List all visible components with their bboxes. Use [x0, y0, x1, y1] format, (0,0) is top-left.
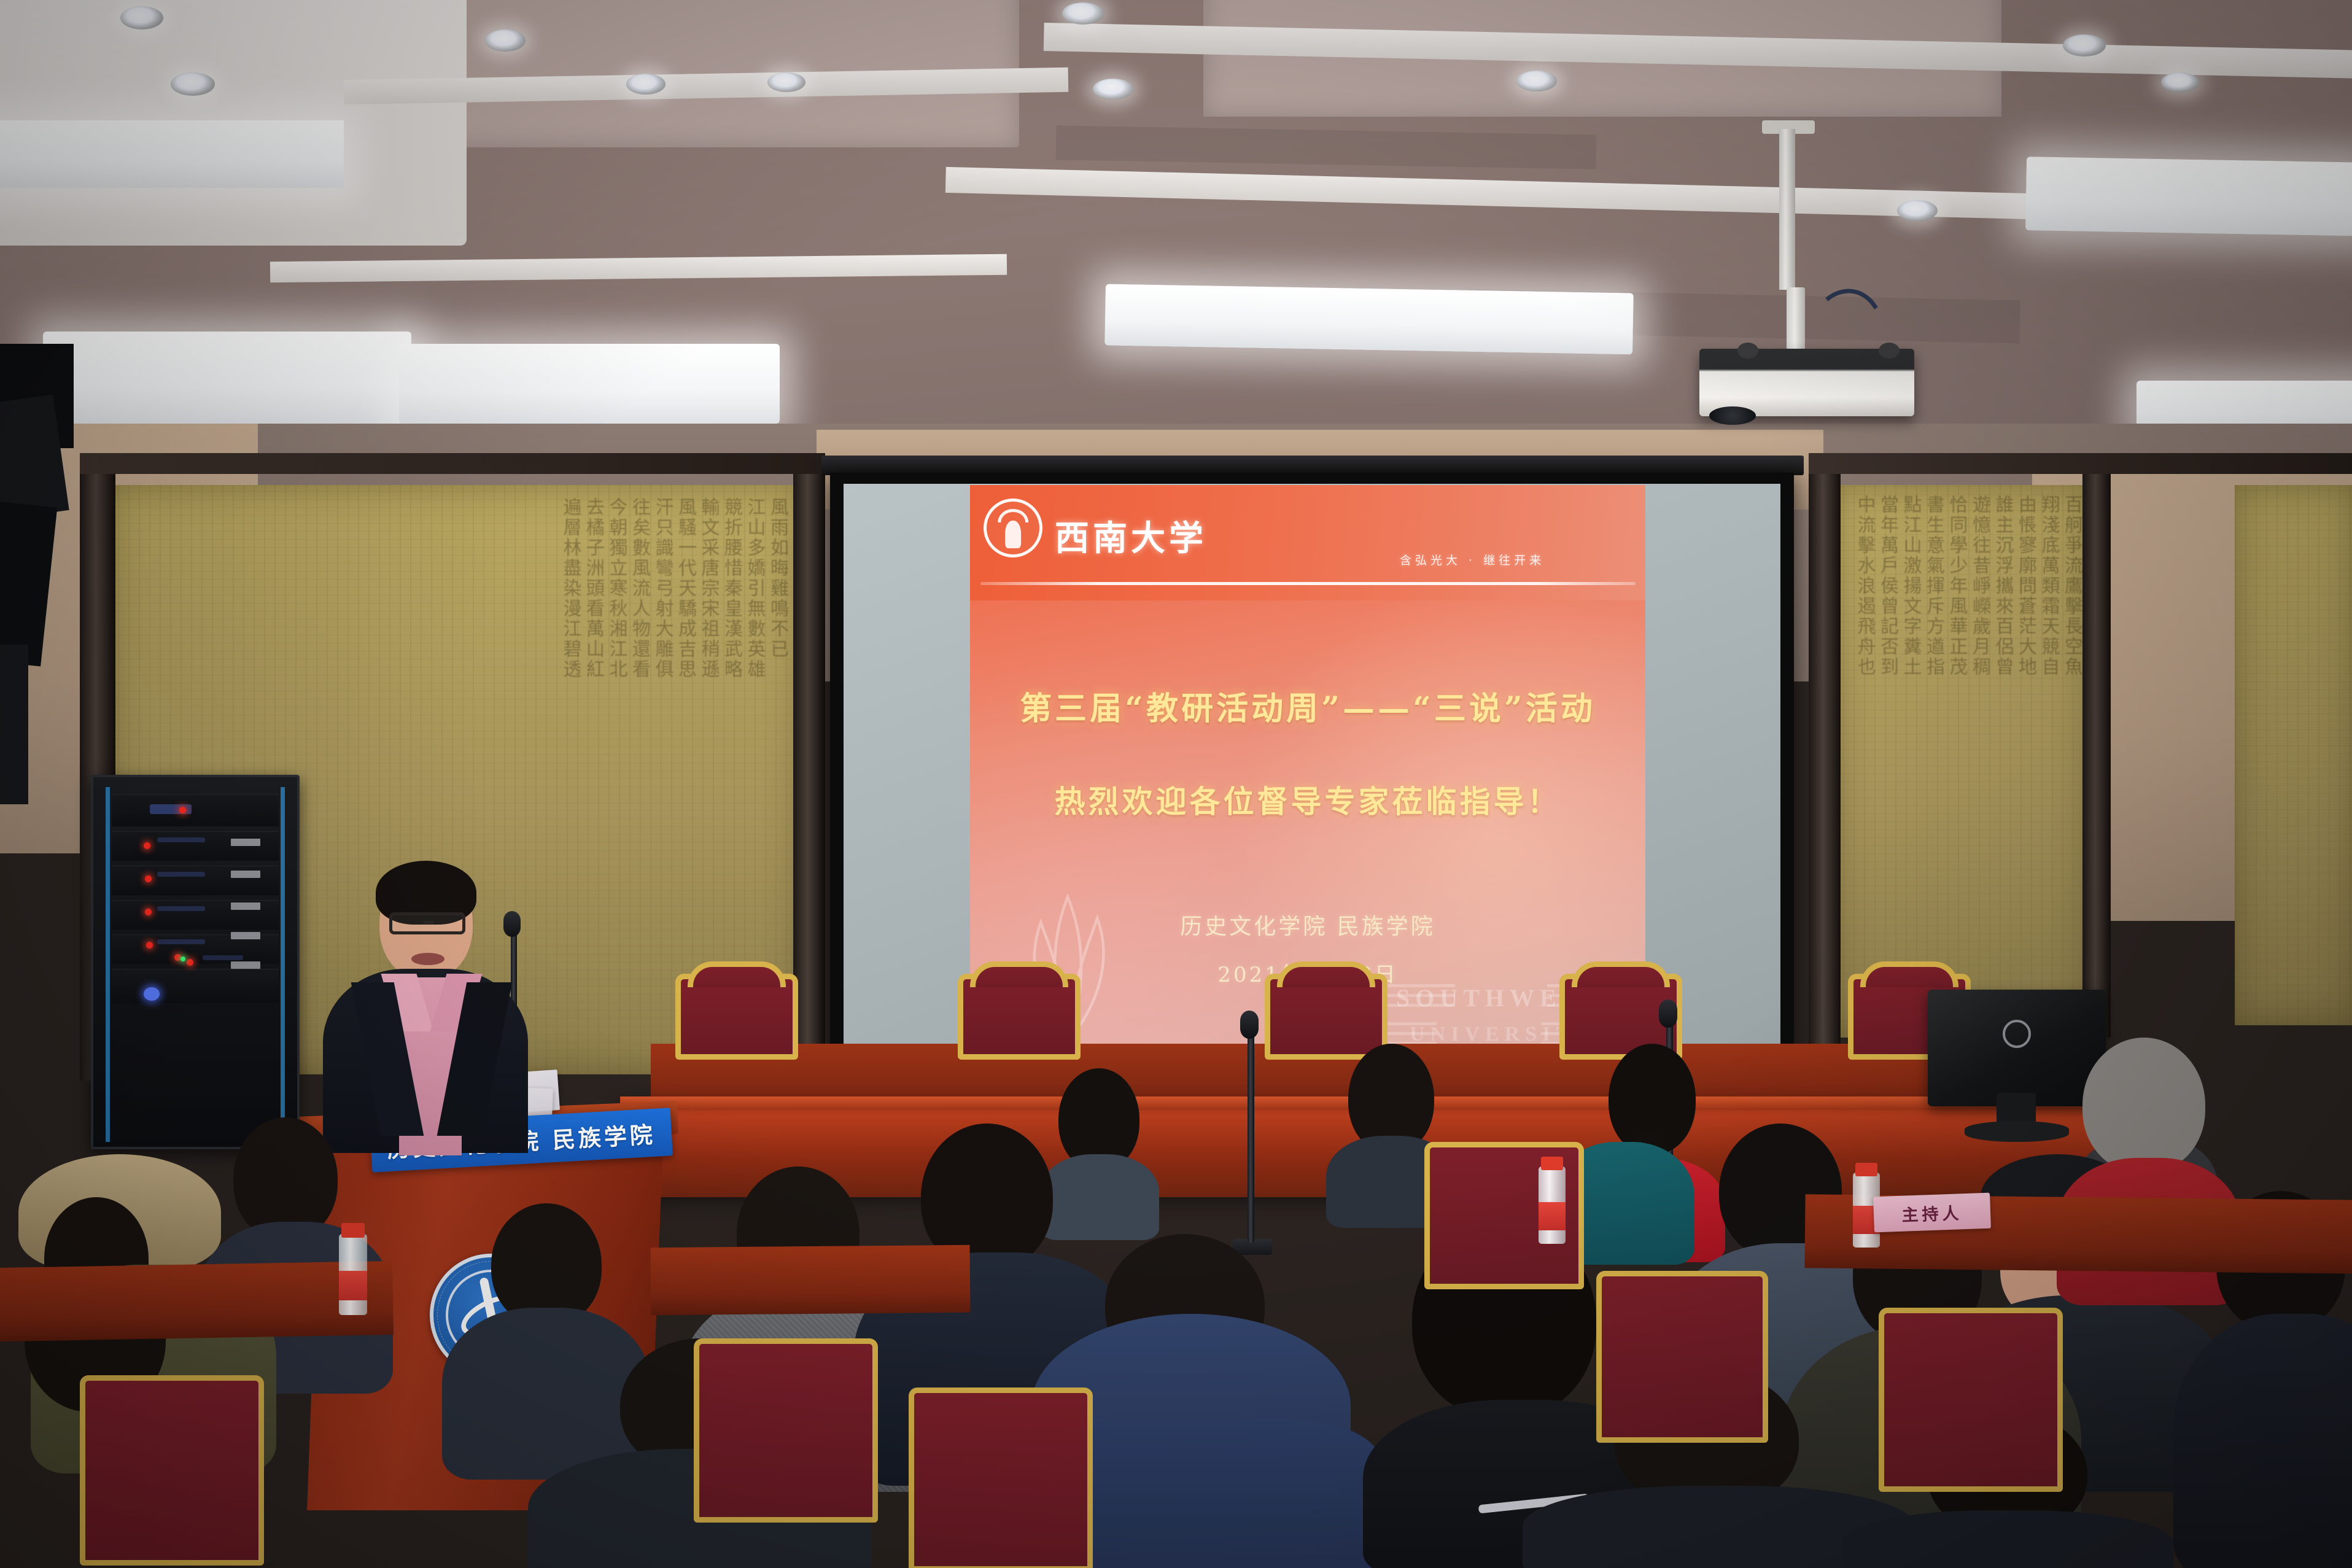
university-motto: 含弘光大 · 继往开来	[1400, 551, 1545, 568]
audience-desk-left	[0, 1261, 394, 1342]
av-equipment-rack[interactable]	[91, 775, 300, 1149]
ceiling-light-panel-right	[2025, 157, 2352, 236]
rack-label-2	[231, 871, 260, 878]
audience-chair-back	[694, 1338, 878, 1523]
speaker-glasses-bridge	[424, 921, 433, 924]
projector-lens-icon	[1709, 406, 1756, 425]
stage-chair-crown	[1572, 961, 1670, 987]
audience-desk-center	[651, 1245, 971, 1316]
rack-led-7	[187, 959, 193, 966]
name-card: 主持人	[1873, 1193, 1991, 1233]
video-camera-tripod	[0, 645, 28, 804]
rack-led-5	[146, 942, 153, 949]
rack-led-4	[145, 909, 152, 915]
stage-chair-crown	[1860, 961, 1958, 987]
rack-display-strip-2	[157, 837, 205, 842]
ceiling-light-panel-left	[0, 120, 344, 188]
stage-chair-crown	[970, 961, 1068, 987]
rack-display-strip-6	[203, 955, 243, 960]
ceiling-light-panel-center-right	[1104, 284, 1634, 355]
stage-chair-crown	[1277, 961, 1375, 987]
downlight-9	[2063, 34, 2106, 56]
wall-mullion-far-right	[2082, 467, 2111, 1038]
audience-chair-back	[1596, 1271, 1768, 1443]
rack-label-5	[231, 961, 260, 969]
rack-label-1	[231, 839, 260, 846]
rack-led-3	[145, 875, 152, 882]
downlight-2	[171, 72, 215, 96]
rack-unit-1	[112, 794, 279, 826]
wall-calligraphy-text-right: 百舸爭流鷹擊長空魚 翔淺底萬類霜天競自 由悵寥廓問蒼茫大地 誰主沉浮攜來百侶曾 …	[1840, 495, 2083, 1027]
wall-calligraphy-panel-right: 百舸爭流鷹擊長空魚 翔淺底萬類霜天競自 由悵寥廓問蒼茫大地 誰主沉浮攜來百侶曾 …	[1833, 485, 2090, 1038]
rack-label-4	[231, 932, 260, 939]
audience-torso	[1842, 1510, 2173, 1568]
audience-head-grey	[2082, 1038, 2205, 1173]
rack-label-3	[231, 902, 260, 910]
water-bottle-2-cap	[1541, 1157, 1563, 1170]
rack-led-power	[144, 987, 160, 1001]
audience-chair-5[interactable]	[80, 1375, 264, 1566]
downlight-3	[485, 29, 526, 52]
water-bottle-2-label	[1539, 1202, 1566, 1230]
slide-welcome-text: 热烈欢迎各位督导专家莅临指导！	[970, 777, 1645, 821]
audience-chair-4[interactable]	[1879, 1308, 2063, 1492]
audience-torso	[2173, 1314, 2352, 1568]
downlight-8	[1897, 200, 1938, 221]
stage-chair-crown	[688, 961, 786, 987]
audience-chair-back	[909, 1388, 1093, 1568]
microphone-head-1	[1240, 1011, 1259, 1039]
wall-mullion-right	[1809, 467, 1841, 1050]
projector-knob-left	[1737, 343, 1758, 359]
university-name: 西南大学	[1055, 511, 1207, 561]
wall-header-strip-right	[1809, 453, 2352, 474]
wall-header-strip	[80, 453, 825, 474]
microphone-stem-1	[1248, 1022, 1254, 1243]
slide-title: 第三届“教研活动周”——“三说”活动	[970, 683, 1645, 729]
ceiling-light-panel-center	[399, 344, 780, 424]
audience-chair-back	[80, 1375, 264, 1566]
downlight-10	[2161, 72, 2199, 92]
downlight-5	[1093, 79, 1133, 99]
water-bottle-1-cap	[341, 1223, 365, 1238]
ceiling-light-panel-left-2	[43, 332, 411, 424]
water-bottle-1-label	[339, 1271, 367, 1300]
rack-rail-left	[106, 787, 110, 1142]
slide-divider-rule	[980, 582, 1636, 585]
water-bottle-3-cap	[1855, 1163, 1877, 1176]
rack-display-strip-3	[157, 872, 205, 877]
downlight-4	[1062, 2, 1104, 25]
rack-led-1	[179, 807, 186, 813]
stage-chair-2[interactable]	[958, 974, 1081, 1060]
downlight-6	[626, 74, 666, 95]
rack-led-2	[144, 842, 150, 849]
rack-rail-right	[281, 787, 285, 1142]
audience-chair-2[interactable]	[909, 1388, 1093, 1568]
rack-led-status	[180, 957, 185, 961]
downlight-11	[767, 72, 805, 92]
audience-chair-back	[1879, 1308, 2063, 1492]
audience-chair-3[interactable]	[1596, 1271, 1768, 1443]
speaker-at-podium	[325, 866, 528, 1148]
rack-display-strip-4	[157, 906, 205, 911]
name-card-text: 主持人	[1901, 1200, 1963, 1225]
downlight-7	[1516, 71, 1557, 91]
speaker-mouth	[411, 953, 444, 965]
university-seal-icon	[984, 499, 1042, 557]
rack-display-strip-5	[157, 939, 205, 944]
downlight-1	[120, 6, 163, 29]
stage-chair-1[interactable]	[675, 974, 798, 1060]
wall-calligraphy-panel-far-right	[2235, 485, 2352, 1025]
dell-logo-icon	[2003, 1020, 2031, 1048]
rack-unit-6	[112, 969, 279, 1003]
microphone-head-2	[1659, 999, 1677, 1028]
audience-chair-1[interactable]	[694, 1338, 878, 1523]
rack-unit-2	[112, 831, 279, 861]
lecture-hall-photo: 風雨如晦雞鳴不已 江山多嬌引無數英雄 競折腰惜秦皇漢武略 輸文采唐宗宋祖稍遜 風…	[0, 0, 2352, 1568]
projector-pole	[1779, 129, 1795, 290]
